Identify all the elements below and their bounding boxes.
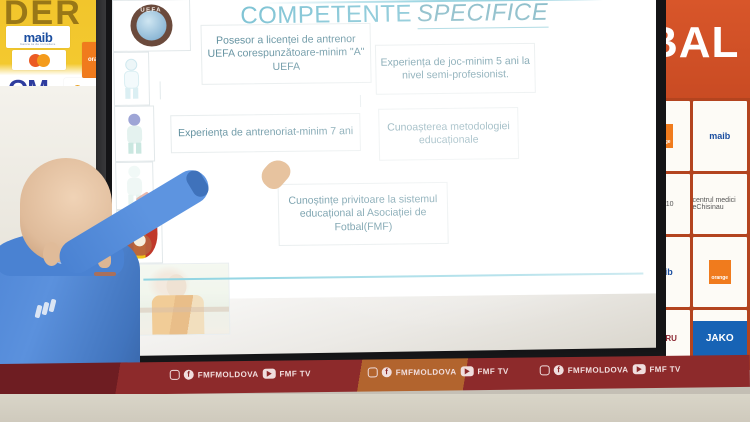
banner-tv: FMF TV	[279, 369, 310, 378]
uefa-logo-box: UEFA	[112, 0, 191, 52]
facebook-icon: f	[184, 370, 194, 380]
node-text: Cunoașterea metodologiei educaționale	[379, 117, 518, 151]
node-text: Cunoștințe privitoare la sistemul educaț…	[279, 190, 448, 237]
node-uefa-licence: Posesor a licenței de antrenor UEFA core…	[200, 23, 371, 85]
banner-social-group: f FMFMOLDOVA FMF TV	[170, 368, 311, 380]
youtube-icon	[262, 369, 275, 379]
sponsor-cell: centrul medici eChisinau	[693, 174, 748, 234]
node-playing-experience: Experiența de joc-minim 5 ani la nivel s…	[375, 43, 536, 95]
connector-line	[360, 95, 361, 107]
banner-social-group: f FMFMOLDOVA FMF TV	[368, 366, 509, 378]
node-text: Posesor a licenței de antrenor UEFA core…	[202, 30, 371, 77]
sponsor-cell: orange	[693, 237, 748, 307]
banner-social-group: f FMFMOLDOVA FMF TV	[540, 364, 681, 376]
sponsor-cell: maib	[693, 101, 748, 171]
uefa-logo-icon: UEFA	[130, 4, 173, 47]
node-fmf-system-knowledge: Cunoștințe privitoare la sistemul educaț…	[278, 182, 449, 246]
facebook-icon: f	[554, 365, 564, 375]
instagram-icon	[368, 367, 378, 377]
youtube-icon	[460, 366, 473, 376]
mastercard-logo-icon	[12, 50, 66, 70]
node-methodology-knowledge: Cunoașterea metodologiei educaționale	[378, 107, 519, 161]
floor	[0, 394, 750, 422]
banner-handle: FMFMOLDOVA	[568, 365, 629, 375]
connector-line	[160, 81, 161, 99]
player-figure-icon	[118, 59, 145, 99]
banner-handle: FMFMOLDOVA	[198, 369, 259, 379]
uefa-emblem-label: UEFA	[140, 7, 162, 13]
banner-handle: FMFMOLDOVA	[396, 367, 457, 377]
maib-tagline: banca ta de incredere	[20, 42, 55, 46]
mastercard-circle-yellow	[37, 54, 50, 67]
orange-logo-icon: orange	[709, 260, 731, 284]
banner-tv: FMF TV	[649, 364, 680, 373]
banner-tv: FMF TV	[477, 366, 508, 375]
maib-logo-left: maib banca ta de incredere	[6, 26, 70, 48]
instagram-icon	[540, 365, 550, 375]
youtube-icon	[632, 364, 645, 374]
instagram-icon	[170, 370, 180, 380]
slide-title-emphasis: SPECIFICE	[417, 0, 549, 29]
jako-logo-icon: JAKO	[693, 321, 748, 355]
presenter-ear	[43, 242, 60, 266]
screenshot-root: DER maib banca ta de incredere orange OM…	[0, 0, 750, 422]
player-figure-box	[113, 52, 150, 106]
facebook-icon: f	[382, 367, 392, 377]
node-text: Experiența de joc-minim 5 ani la nivel s…	[376, 52, 535, 86]
